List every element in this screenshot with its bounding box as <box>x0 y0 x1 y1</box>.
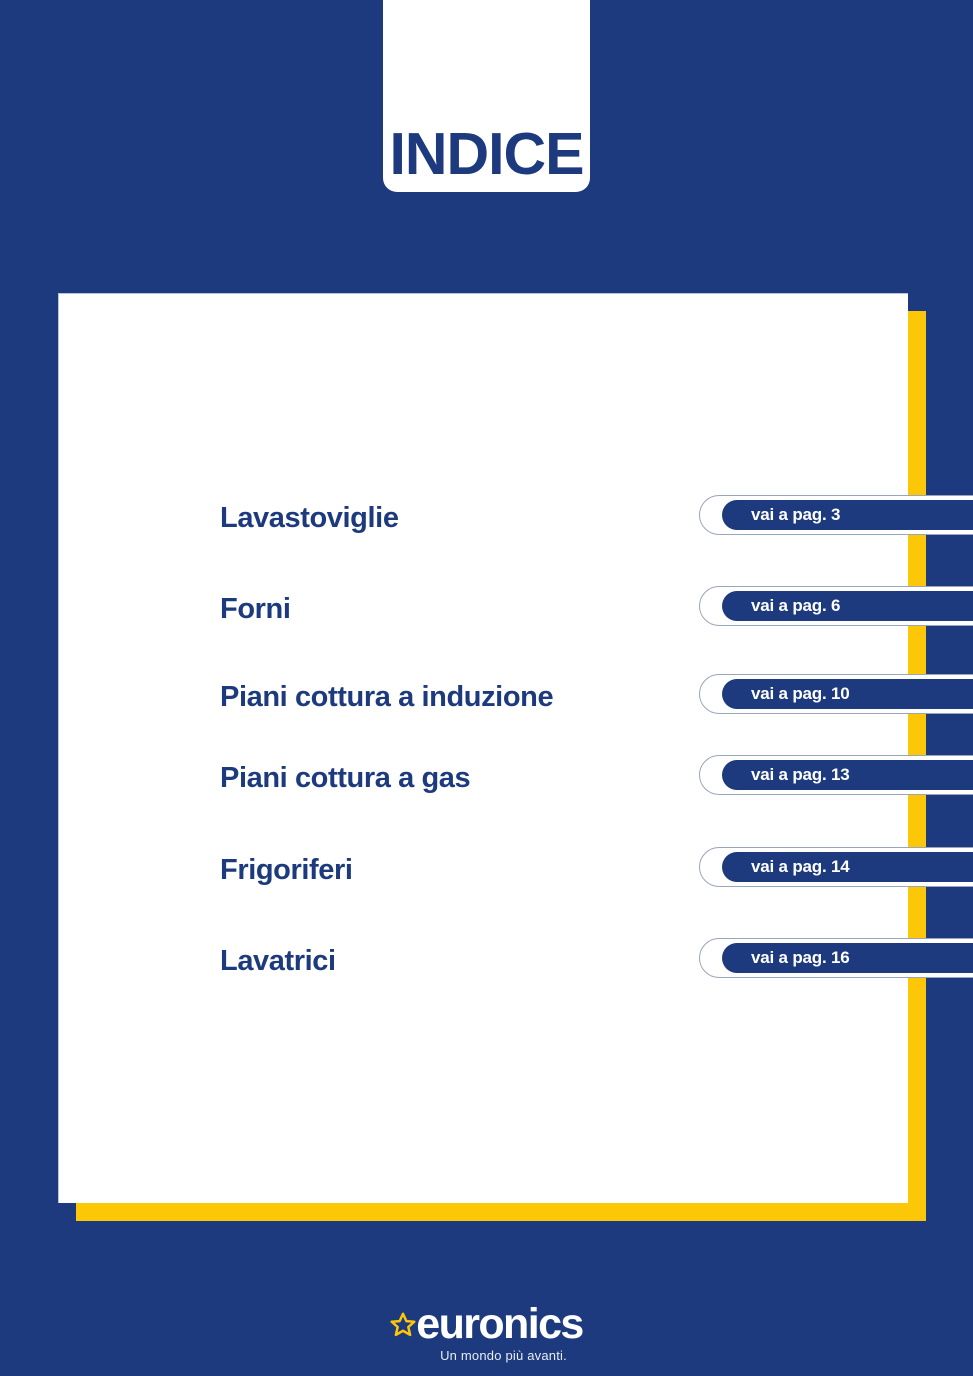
index-item-label: Forni <box>220 593 291 626</box>
go-to-page-button[interactable]: vai a pag. 16 <box>699 938 973 978</box>
go-to-page-label: vai a pag. 6 <box>751 596 840 616</box>
go-to-page-button-fill: vai a pag. 14 <box>722 852 973 882</box>
go-to-page-label: vai a pag. 13 <box>751 765 850 785</box>
list-item: Frigoriferi vai a pag. 14 <box>58 847 973 893</box>
go-to-page-label: vai a pag. 10 <box>751 684 850 704</box>
list-item: Forni vai a pag. 6 <box>58 586 973 632</box>
page-title: INDICE <box>390 125 584 184</box>
list-item: Piani cottura a gas vai a pag. 13 <box>58 755 973 801</box>
list-item: Lavastoviglie vai a pag. 3 <box>58 495 973 541</box>
go-to-page-button[interactable]: vai a pag. 3 <box>699 495 973 535</box>
list-item: Lavatrici vai a pag. 16 <box>58 938 973 984</box>
logo-mark-row: euronics <box>390 1303 582 1346</box>
go-to-page-button-fill: vai a pag. 6 <box>722 591 973 621</box>
index-item-label: Frigoriferi <box>220 854 353 887</box>
list-item: Piani cottura a induzione vai a pag. 10 <box>58 674 973 720</box>
go-to-page-button[interactable]: vai a pag. 13 <box>699 755 973 795</box>
go-to-page-button-fill: vai a pag. 10 <box>722 679 973 709</box>
brand-wordmark: euronics <box>416 1303 582 1346</box>
go-to-page-button[interactable]: vai a pag. 14 <box>699 847 973 887</box>
star-icon <box>390 1312 416 1338</box>
go-to-page-button[interactable]: vai a pag. 6 <box>699 586 973 626</box>
go-to-page-button[interactable]: vai a pag. 10 <box>699 674 973 714</box>
go-to-page-label: vai a pag. 14 <box>751 857 850 877</box>
index-item-label: Piani cottura a gas <box>220 762 470 795</box>
brand-tagline: Un mondo più avanti. <box>440 1348 567 1363</box>
go-to-page-label: vai a pag. 3 <box>751 505 840 525</box>
go-to-page-button-fill: vai a pag. 16 <box>722 943 973 973</box>
index-item-label: Lavatrici <box>220 945 336 978</box>
go-to-page-button-fill: vai a pag. 13 <box>722 760 973 790</box>
brand-logo: euronics Un mondo più avanti. <box>0 1303 973 1363</box>
index-list: Lavastoviglie vai a pag. 3 Forni vai a p… <box>58 293 973 1203</box>
header-tab: INDICE <box>383 0 590 192</box>
index-item-label: Piani cottura a induzione <box>220 681 553 714</box>
index-item-label: Lavastoviglie <box>220 502 399 535</box>
go-to-page-label: vai a pag. 16 <box>751 948 850 968</box>
go-to-page-button-fill: vai a pag. 3 <box>722 500 973 530</box>
